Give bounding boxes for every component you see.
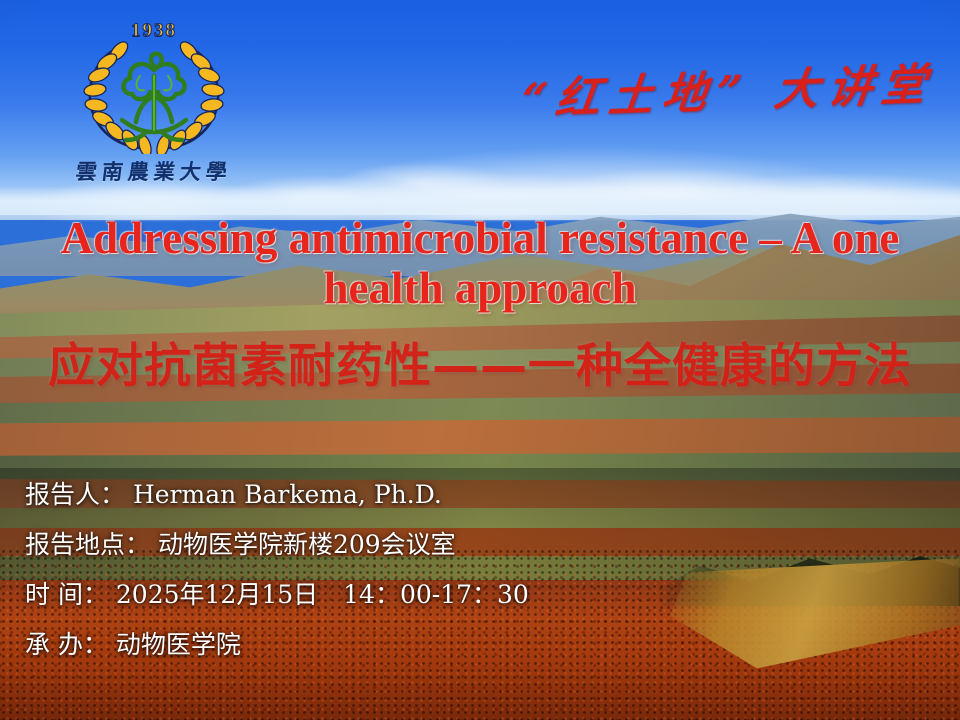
university-logo: 1938	[44, 14, 264, 194]
english-title: Addressing antimicrobial resistance – A …	[30, 213, 930, 313]
event-details: 报告人： Herman Barkema, Ph.D. 报告地点： 动物医学院新楼…	[25, 470, 925, 670]
chinese-title: 应对抗菌素耐药性——一种全健康的方法	[28, 341, 932, 393]
wheat-wreath-tree-icon	[78, 36, 230, 154]
detail-speaker: 报告人： Herman Barkema, Ph.D.	[25, 470, 925, 520]
detail-time: 时 间： 2025年12月15日 14：00-17：30	[25, 570, 925, 620]
detail-location: 报告地点： 动物医学院新楼209会议室	[25, 520, 925, 570]
detail-organizer: 承 办： 动物医学院	[25, 620, 925, 670]
university-name: 雲南農業大學	[42, 156, 266, 186]
lecture-poster: 1938	[0, 0, 960, 720]
